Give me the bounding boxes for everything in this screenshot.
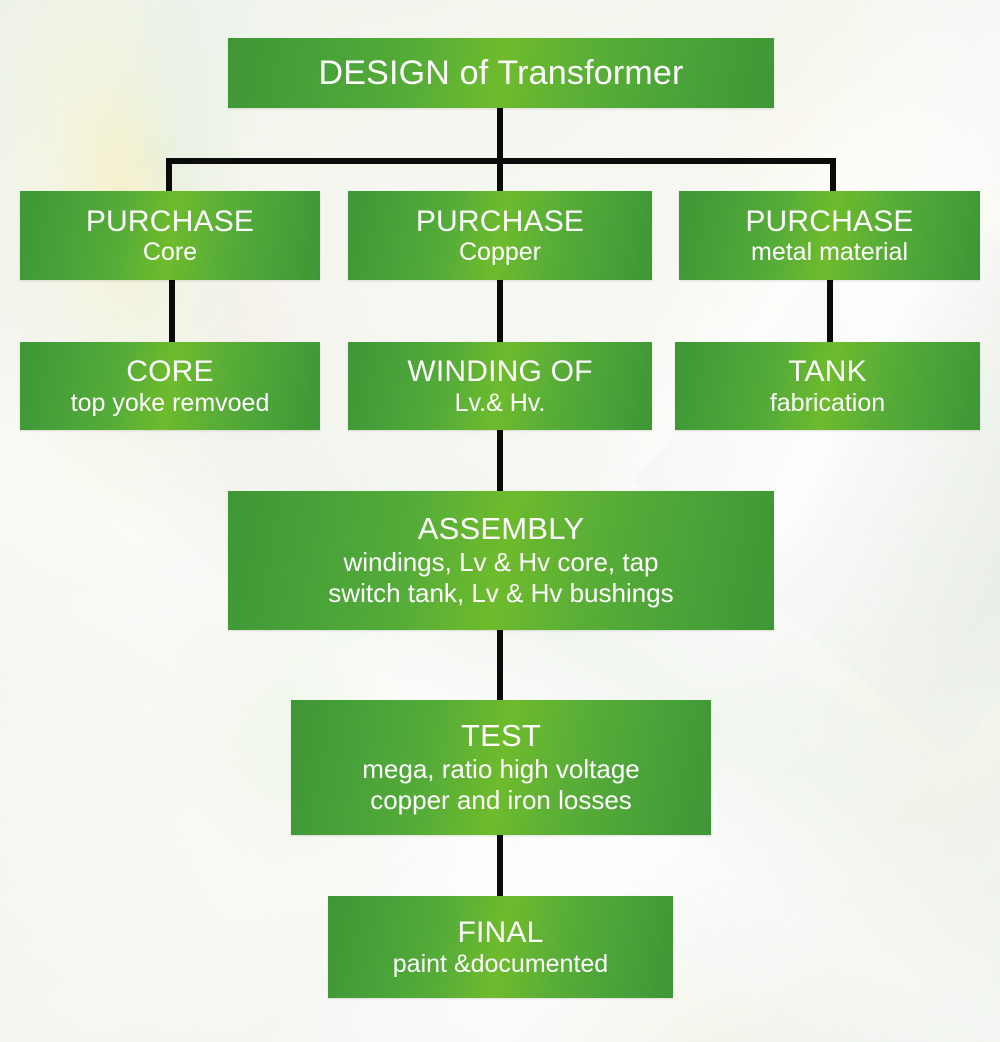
node-purchase-copper[interactable]: PURCHASE Copper — [348, 191, 652, 280]
node-winding-title: WINDING OF — [407, 355, 592, 389]
connector-purchase-metal-to-tank — [827, 279, 833, 342]
connector-design-to-bus — [497, 108, 503, 163]
connector-purchase-core-to-core — [169, 279, 175, 342]
node-design[interactable]: DESIGN of Transformer — [228, 38, 774, 108]
node-purchase-core-subtitle: Core — [143, 238, 197, 266]
connector-purchase-copper-to-winding — [497, 279, 503, 342]
flowchart-canvas: DESIGN of Transformer PURCHASE Core PURC… — [0, 0, 1000, 1042]
node-purchase-metal-subtitle: metal material — [751, 238, 908, 266]
node-test-subtitle-2: copper and iron losses — [370, 785, 632, 816]
connector-assembly-to-test — [497, 629, 503, 701]
node-core-title: CORE — [126, 355, 213, 389]
node-design-title: DESIGN of Transformer — [318, 54, 683, 92]
connector-bus-to-purchase-metal — [830, 158, 836, 191]
node-purchase-copper-subtitle: Copper — [459, 238, 541, 266]
node-tank-subtitle: fabrication — [770, 389, 885, 417]
node-final[interactable]: FINAL paint &documented — [328, 896, 673, 998]
node-purchase-copper-title: PURCHASE — [416, 205, 584, 239]
node-assembly-subtitle-2: switch tank, Lv & Hv bushings — [328, 578, 673, 609]
connector-bus-to-purchase-core — [166, 158, 172, 191]
node-tank[interactable]: TANK fabrication — [675, 342, 980, 430]
node-core[interactable]: CORE top yoke remvoed — [20, 342, 320, 430]
node-test-title: TEST — [461, 719, 541, 754]
node-purchase-core-title: PURCHASE — [86, 205, 254, 239]
node-purchase-metal[interactable]: PURCHASE metal material — [679, 191, 980, 280]
connector-test-to-final — [497, 834, 503, 896]
node-purchase-core[interactable]: PURCHASE Core — [20, 191, 320, 280]
node-winding[interactable]: WINDING OF Lv.& Hv. — [348, 342, 652, 430]
node-test-subtitle-1: mega, ratio high voltage — [362, 754, 640, 785]
node-tank-title: TANK — [788, 355, 867, 389]
node-test[interactable]: TEST mega, ratio high voltage copper and… — [291, 700, 711, 835]
node-assembly-subtitle-1: windings, Lv & Hv core, tap — [343, 547, 658, 578]
connector-bus-to-purchase-copper — [497, 158, 503, 191]
node-final-subtitle: paint &documented — [393, 950, 608, 978]
node-final-title: FINAL — [457, 916, 543, 950]
node-winding-subtitle: Lv.& Hv. — [455, 389, 546, 417]
node-assembly-title: ASSEMBLY — [418, 512, 584, 547]
node-assembly[interactable]: ASSEMBLY windings, Lv & Hv core, tap swi… — [228, 491, 774, 630]
node-purchase-metal-title: PURCHASE — [745, 205, 913, 239]
connector-winding-to-assembly — [497, 429, 503, 491]
node-core-subtitle: top yoke remvoed — [71, 389, 270, 417]
